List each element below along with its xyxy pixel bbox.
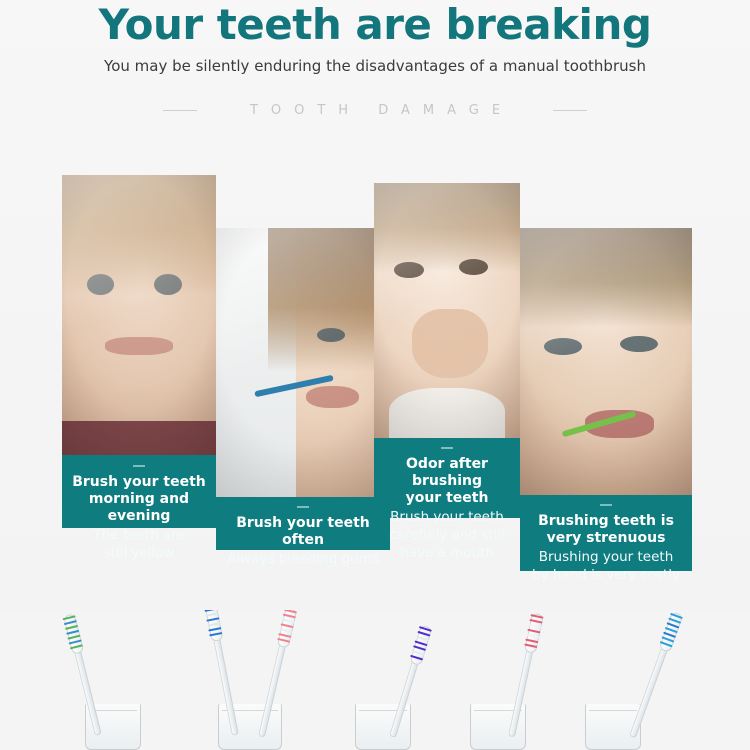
caption-sub-line1: Brushing your teeth [526,549,686,565]
panel-bleeding-gums[interactable] [216,228,390,505]
caption-headline-line1: Brushing teeth is [526,513,686,530]
panel-strenuous-brushing[interactable] [520,228,692,504]
caption-headline-line1: Brush your teeth [68,474,210,491]
caption-headline-line1: Odor after brushing [380,456,514,490]
photo-bleeding-gums [216,228,390,505]
caption-sub-line2: by hand is very costly [526,567,686,583]
panel-worried-woman[interactable] [62,175,216,475]
caption-sub-line2: still yellow [68,545,210,561]
bristles-icon [523,612,544,652]
caption-panel-bleeding-gums[interactable]: Brush your teeth often Always bleeding g… [216,497,390,550]
caption-headline-line2: morning and evening [68,491,210,525]
bristles-icon [658,611,683,651]
bristles-icon [409,624,433,664]
page-title: Your teeth are breaking [0,2,750,48]
caption-sub-line1: The teeth are [68,527,210,543]
photo-collage: Brush your teeth morning and evening The… [0,160,750,610]
caption-tick-icon [133,465,145,467]
caption-panel-bad-odor[interactable]: Odor after brushing your teeth Brush you… [374,438,520,518]
photo-strenuous-brushing [520,228,692,504]
panel-bad-odor[interactable] [374,183,520,446]
divider-dash-left [163,110,197,111]
photo-worried-woman [62,175,216,475]
caption-panel-worried-woman[interactable]: Brush your teeth morning and evening The… [62,455,216,528]
caption-sub-line1: Always bleeding gums [222,551,384,567]
bristles-icon [62,613,84,653]
toothbrush-band [0,610,750,750]
caption-headline-line2: very strenuous [526,530,686,547]
caption-sub-line1: Brush your teeth [380,509,514,525]
promo-page: Your teeth are breaking You may be silen… [0,0,750,750]
eyebrow-divider: TOOTH DAMAGE [0,99,750,121]
caption-headline-line2: your teeth [380,490,514,507]
page-header: Your teeth are breaking You may be silen… [0,0,750,160]
bristles-icon [203,610,223,640]
caption-tick-icon [600,504,612,506]
caption-sub-line2: carefully and still [380,527,514,543]
caption-panel-strenuous-brushing[interactable]: Brushing teeth is very strenuous Brushin… [520,495,692,571]
divider-dash-right [553,110,587,111]
page-subtitle: You may be silently enduring the disadva… [0,56,750,76]
caption-sub-line3: have a mouth [380,545,514,561]
caption-tick-icon [441,447,453,449]
bristles-icon [276,610,297,647]
caption-tick-icon [297,506,309,508]
eyebrow-label: TOOTH DAMAGE [237,103,513,118]
caption-headline-line1: Brush your teeth often [222,515,384,549]
photo-bad-odor [374,183,520,446]
